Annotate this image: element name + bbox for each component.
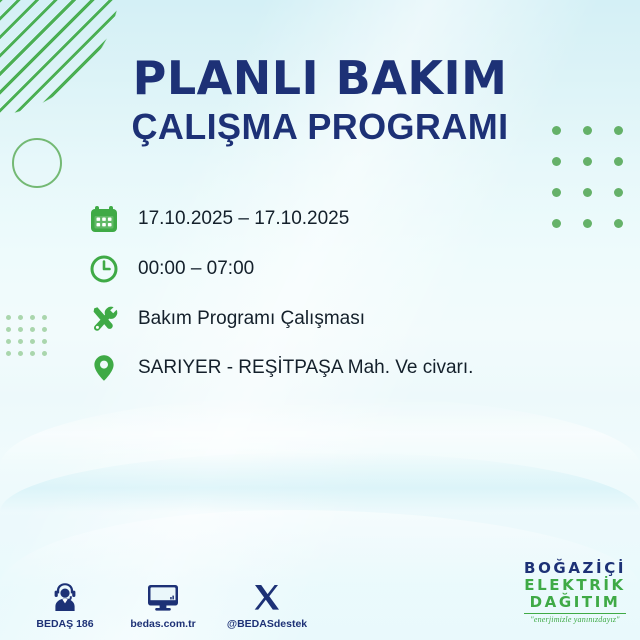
contact-phone[interactable]: BEDAŞ 186 bbox=[28, 576, 102, 630]
brand-divider bbox=[524, 613, 626, 615]
decorative-dot bbox=[18, 315, 23, 320]
decorative-dot bbox=[614, 188, 623, 197]
decorative-dot bbox=[614, 219, 623, 228]
info-row-location-text: SARIYER - REŞİTPAŞA Mah. Ve civarı. bbox=[138, 357, 473, 379]
decorative-dot bbox=[583, 188, 592, 197]
decorative-dot bbox=[583, 219, 592, 228]
decorative-dot bbox=[42, 339, 47, 344]
info-row-time: 00:00 – 07:00 bbox=[84, 246, 584, 292]
contact-social-label: @BEDASdestek bbox=[227, 618, 307, 630]
clock-icon bbox=[84, 249, 124, 289]
poster-canvas: PLANLI BAKIM ÇALIŞMA PROGRAMI bbox=[0, 0, 640, 640]
background-wave-upper bbox=[0, 396, 640, 466]
info-row-location: SARIYER - REŞİTPAŞA Mah. Ve civarı. bbox=[84, 346, 584, 390]
decorative-dot bbox=[30, 339, 35, 344]
decorative-dot bbox=[30, 315, 35, 320]
decorative-dot bbox=[42, 351, 47, 356]
decorative-dot bbox=[614, 157, 623, 166]
info-row-worktype: Bakım Programı Çalışması bbox=[84, 296, 584, 342]
background-wave-middle bbox=[0, 452, 640, 512]
decorative-dot bbox=[6, 327, 11, 332]
monitor-icon bbox=[146, 576, 180, 612]
decorative-dot bbox=[583, 157, 592, 166]
title-sub: ÇALIŞMA PROGRAMI bbox=[0, 106, 640, 148]
decorative-dot bbox=[42, 315, 47, 320]
info-row-worktype-text: Bakım Programı Çalışması bbox=[138, 308, 365, 330]
contact-website[interactable]: bedas.com.tr bbox=[120, 576, 206, 630]
contact-social[interactable]: @BEDASdestek bbox=[224, 576, 310, 630]
page-title: PLANLI BAKIM ÇALIŞMA PROGRAMI bbox=[0, 52, 640, 148]
x-twitter-icon bbox=[253, 576, 281, 612]
location-pin-icon bbox=[84, 348, 124, 388]
contact-phone-label: BEDAŞ 186 bbox=[36, 618, 93, 630]
footer: BEDAŞ 186 bbox=[0, 550, 640, 640]
contact-list: BEDAŞ 186 bbox=[28, 576, 310, 630]
tools-icon bbox=[84, 299, 124, 339]
title-main: PLANLI BAKIM bbox=[0, 52, 640, 104]
brand-line-1: BOĞAZİÇİ bbox=[524, 560, 626, 577]
decorative-dot bbox=[6, 339, 11, 344]
dot-grid-left-decoration bbox=[6, 315, 66, 363]
info-list: 17.10.2025 – 17.10.2025 00:00 – 07:00 bbox=[84, 196, 584, 394]
decorative-dot bbox=[6, 315, 11, 320]
info-row-date-text: 17.10.2025 – 17.10.2025 bbox=[138, 208, 349, 230]
info-row-date: 17.10.2025 – 17.10.2025 bbox=[84, 196, 584, 242]
decorative-dot bbox=[42, 327, 47, 332]
decorative-dot bbox=[30, 327, 35, 332]
decorative-dot bbox=[18, 339, 23, 344]
decorative-dot bbox=[6, 351, 11, 356]
decorative-dot bbox=[30, 351, 35, 356]
contact-website-label: bedas.com.tr bbox=[130, 618, 195, 630]
decorative-dot bbox=[18, 351, 23, 356]
decorative-dot bbox=[18, 327, 23, 332]
brand-line-2: ELEKTRİK bbox=[524, 577, 626, 594]
brand-logo: BOĞAZİÇİ ELEKTRİK DAĞITIM "enerjimizle y… bbox=[524, 560, 626, 625]
brand-tagline: "enerjimizle yanınızdayız" bbox=[524, 615, 626, 624]
calendar-icon bbox=[84, 199, 124, 239]
decorative-dot bbox=[552, 157, 561, 166]
headset-support-icon bbox=[50, 576, 80, 612]
info-row-time-text: 00:00 – 07:00 bbox=[138, 258, 254, 280]
brand-line-3: DAĞITIM bbox=[524, 594, 626, 611]
